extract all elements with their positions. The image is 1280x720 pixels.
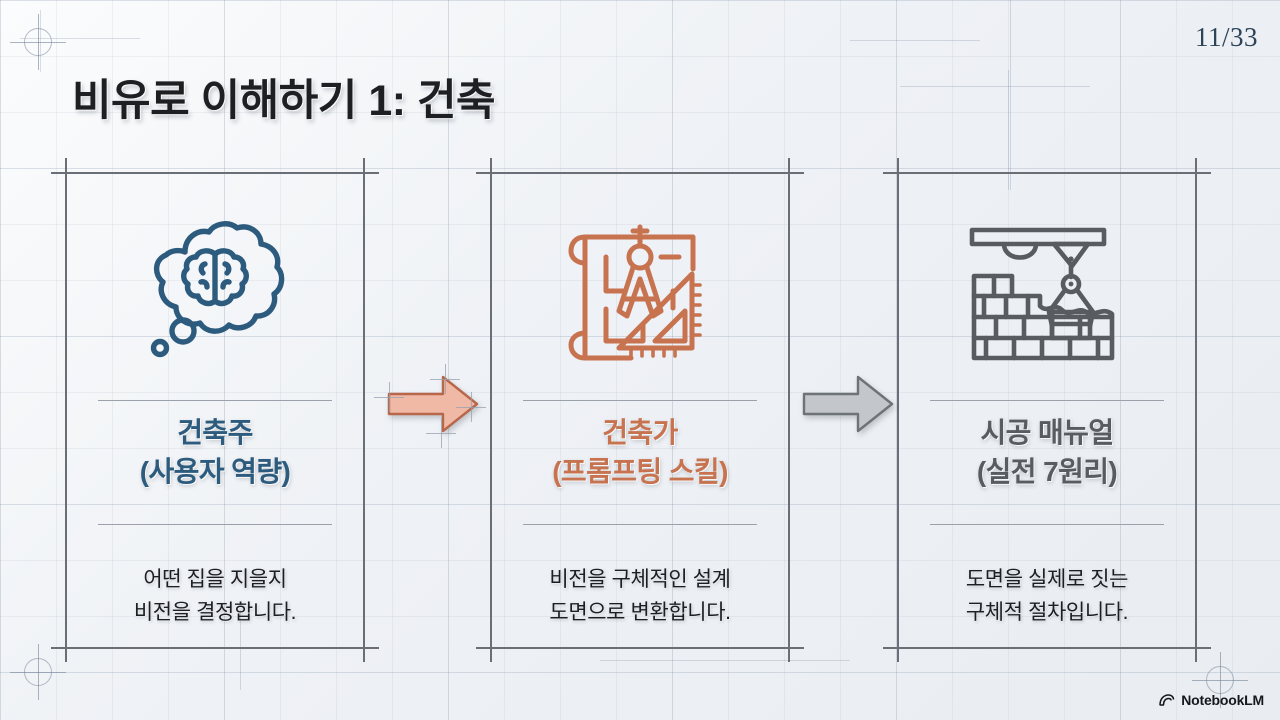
column-client[interactable]: 건축주 (사용자 역량) 어떤 집을 지을지 비전을 결정합니다.	[65, 172, 365, 649]
page-number: 11/33	[1195, 22, 1258, 53]
column-body-text: 어떤 집을 지을지 비전을 결정합니다.	[61, 564, 369, 630]
frame-line-top	[883, 172, 1211, 174]
arrow-right-gray-icon	[800, 372, 896, 436]
divider-above-heading	[523, 400, 757, 401]
registration-mark-bottom-left	[10, 644, 66, 700]
page-title: 비유로 이해하기 1: 건축	[72, 66, 495, 128]
notebooklm-logo-icon	[1158, 693, 1175, 707]
column-heading: 건축주 (사용자 역량)	[65, 414, 365, 491]
column-heading: 시공 매뉴얼 (실전 7원리)	[897, 414, 1197, 491]
divider-below-heading	[930, 524, 1164, 525]
notebooklm-label: NotebookLM	[1181, 692, 1264, 708]
notebooklm-watermark: NotebookLM	[1158, 692, 1264, 708]
divider-below-heading	[98, 524, 332, 525]
column-construction-manual[interactable]: 시공 매뉴얼 (실전 7원리) 도면을 실제로 짓는 구체적 절차입니다.	[897, 172, 1197, 649]
divider-above-heading	[98, 400, 332, 401]
construction-line	[40, 10, 41, 72]
frame-line-top	[476, 172, 804, 174]
construction-line	[1010, 0, 1011, 190]
frame-line-bottom	[476, 647, 804, 649]
construction-line	[600, 660, 850, 661]
slide-canvas: 11/33 비유로 이해하기 1: 건축	[0, 0, 1280, 720]
divider-below-heading	[523, 524, 757, 525]
blueprint-compass-ruler-icon	[490, 194, 790, 384]
comparison-columns: 건축주 (사용자 역량) 어떤 집을 지을지 비전을 결정합니다.	[0, 172, 1280, 652]
arrow-right-salmon-icon	[385, 372, 481, 436]
column-heading: 건축가 (프롬프팅 스킬)	[490, 414, 790, 491]
construction-line	[900, 86, 1090, 87]
brick-wall-crane-icon	[897, 194, 1197, 384]
thought-bubble-brain-icon	[65, 194, 365, 384]
frame-line-top	[51, 172, 379, 174]
column-body-text: 비전을 구체적인 설계 도면으로 변환합니다.	[486, 564, 794, 630]
construction-line	[20, 38, 140, 39]
registration-mark-top-left	[10, 14, 66, 70]
divider-above-heading	[930, 400, 1164, 401]
column-architect[interactable]: 건축가 (프롬프팅 스킬) 비전을 구체적인 설계 도면으로 변환합니다.	[490, 172, 790, 649]
frame-line-bottom	[51, 647, 379, 649]
column-body-text: 도면을 실제로 짓는 구체적 절차입니다.	[893, 564, 1201, 630]
construction-line	[850, 40, 980, 41]
frame-line-bottom	[883, 647, 1211, 649]
